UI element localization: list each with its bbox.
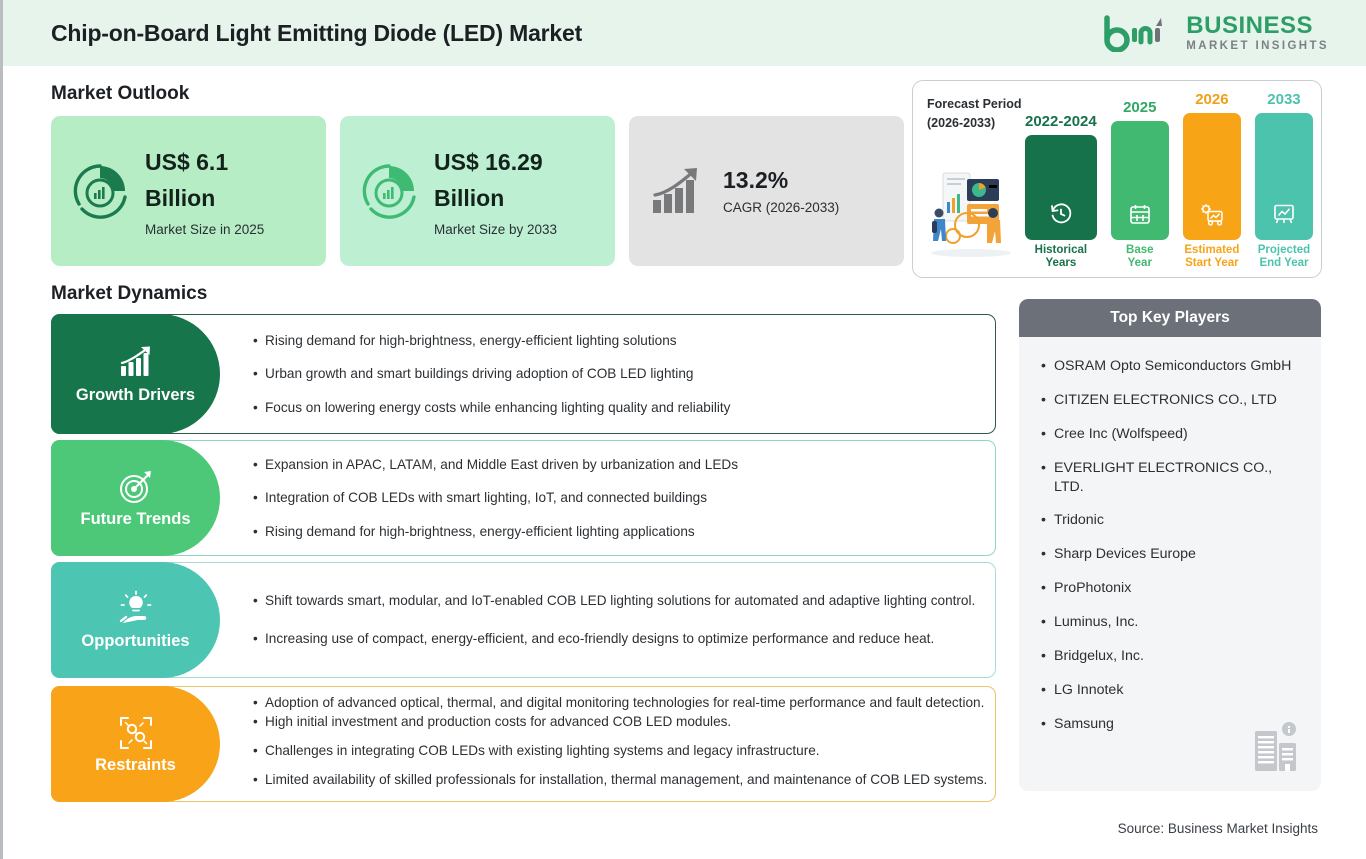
market-size-2033-card: US$ 16.29 Billion Market Size by 2033 — [340, 116, 615, 266]
dynamics-tab-growth-drivers[interactable]: Growth Drivers — [51, 314, 220, 434]
forecast-period-chart: Forecast Period (2026-2033) — [912, 80, 1322, 278]
dynamics-row-future-trends: Future Trends Expansion in APAC, LATAM, … — [51, 440, 996, 556]
dynamics-tab-restraints[interactable]: Restraints — [51, 686, 220, 802]
market-outlook-heading: Market Outlook — [51, 83, 189, 105]
bar-caption: Estimated Start Year — [1184, 244, 1239, 271]
dynamics-bullets: Rising demand for high-brightness, energ… — [253, 314, 988, 434]
cagr-value: 13.2% — [723, 167, 839, 195]
forecast-bars: 2022-2024 Historical Years 2025 — [1025, 91, 1313, 271]
forecast-bar-base: 2025 Base Year — [1111, 91, 1169, 271]
list-item: Tridonic — [1041, 511, 1303, 530]
bullet-item: Rising demand for high-brightness, energ… — [253, 331, 988, 351]
source-note: Source: Business Market Insights — [1118, 821, 1318, 836]
market-size-2033-value: US$ 16.29 — [434, 145, 557, 181]
list-item: Sharp Devices Europe — [1041, 545, 1303, 564]
dynamics-bullets: Shift towards smart, modular, and IoT-en… — [253, 562, 988, 678]
dynamics-row-opportunities: Opportunities Shift towards smart, modul… — [51, 562, 996, 678]
list-item: EVERLIGHT ELECTRONICS CO., LTD. — [1041, 459, 1303, 497]
logo-business-text: BUSINESS — [1186, 14, 1329, 38]
brand-logo: BUSINESS MARKET INSIGHTS — [1101, 14, 1329, 53]
list-item: LG Innotek — [1041, 681, 1303, 700]
logo-insights-text: MARKET INSIGHTS — [1186, 41, 1329, 53]
calendar-icon — [1128, 202, 1152, 231]
bar-year-label: 2033 — [1267, 91, 1300, 108]
bullet-item: Integration of COB LEDs with smart light… — [253, 488, 988, 508]
bar-rect — [1025, 135, 1097, 239]
list-item: Cree Inc (Wolfspeed) — [1041, 425, 1303, 444]
cagr-label: CAGR (2026-2033) — [723, 200, 839, 215]
dynamics-tab-opportunities[interactable]: Opportunities — [51, 562, 220, 678]
market-size-2025-label: Market Size in 2025 — [145, 222, 264, 237]
dynamics-tab-label: Opportunities — [81, 632, 189, 651]
bmi-logo-icon — [1101, 14, 1177, 52]
market-size-2033-label: Market Size by 2033 — [434, 222, 557, 237]
bullet-item: Urban growth and smart buildings driving… — [253, 364, 988, 384]
list-item: CITIZEN ELECTRONICS CO., LTD — [1041, 391, 1303, 410]
players-panel-title: Top Key Players — [1019, 299, 1321, 337]
market-dynamics-heading: Market Dynamics — [51, 283, 207, 305]
bar-chart-up-icon — [117, 344, 155, 382]
presentation-chart-icon — [1272, 202, 1296, 231]
donut-bar-chart-icon — [358, 160, 420, 222]
bullet-item: Focus on lowering energy costs while enh… — [253, 398, 988, 418]
growth-arrow-chart-icon — [647, 160, 709, 222]
bar-year-label: 2025 — [1123, 99, 1156, 116]
bar-rect — [1111, 121, 1169, 240]
bullet-item: High initial investment and production c… — [253, 712, 988, 732]
list-item: Bridgelux, Inc. — [1041, 647, 1303, 666]
market-outlook-cards: US$ 6.1 Billion Market Size in 2025 US$ … — [51, 116, 904, 266]
market-size-2025-unit: Billion — [145, 181, 264, 217]
page-header: Chip-on-Board Light Emitting Diode (LED)… — [3, 0, 1366, 66]
players-list: OSRAM Opto Semiconductors GmbH CITIZEN E… — [1019, 337, 1321, 734]
team-analytics-illustration — [923, 169, 1019, 259]
bullet-item: Challenges in integrating COB LEDs with … — [253, 741, 988, 761]
gear-chart-icon — [1199, 202, 1225, 231]
list-item: Luminus, Inc. — [1041, 613, 1303, 632]
market-size-2025-value: US$ 6.1 — [145, 145, 264, 181]
bar-year-label: 2026 — [1195, 91, 1228, 108]
dynamics-tab-label: Future Trends — [80, 510, 190, 529]
infographic-page: Chip-on-Board Light Emitting Diode (LED)… — [0, 0, 1366, 859]
bullet-item: Limited availability of skilled professi… — [253, 770, 988, 790]
cagr-card: 13.2% CAGR (2026-2033) — [629, 116, 904, 266]
bar-caption: Historical Years — [1035, 244, 1087, 271]
forecast-bar-projected: 2033 Projected End Year — [1255, 91, 1313, 271]
list-item: OSRAM Opto Semiconductors GmbH — [1041, 357, 1303, 376]
market-size-2025-card: US$ 6.1 Billion Market Size in 2025 — [51, 116, 326, 266]
dynamics-tab-label: Restraints — [95, 756, 176, 775]
target-dart-icon — [117, 468, 155, 506]
dynamics-bullets: Expansion in APAC, LATAM, and Middle Eas… — [253, 440, 988, 556]
bar-caption: Projected End Year — [1258, 244, 1310, 271]
molecule-brackets-icon — [117, 714, 155, 752]
top-key-players-panel: Top Key Players OSRAM Opto Semiconductor… — [1019, 299, 1321, 791]
bar-rect — [1255, 113, 1313, 240]
bullet-item: Rising demand for high-brightness, energ… — [253, 522, 988, 542]
page-title: Chip-on-Board Light Emitting Diode (LED)… — [51, 20, 582, 47]
lightbulb-hand-icon — [117, 590, 155, 628]
bar-year-label: 2022-2024 — [1025, 113, 1097, 130]
company-info-icon — [1253, 721, 1299, 773]
bar-rect — [1183, 113, 1241, 240]
dynamics-bullets: Adoption of advanced optical, thermal, a… — [253, 686, 988, 802]
list-item: ProPhotonix — [1041, 579, 1303, 598]
donut-bar-chart-icon — [69, 160, 131, 222]
forecast-bar-estimated: 2026 Estimated Start Year — [1183, 91, 1241, 271]
bullet-item: Expansion in APAC, LATAM, and Middle Eas… — [253, 455, 988, 475]
bar-caption: Base Year — [1126, 244, 1154, 271]
bullet-item: Increasing use of compact, energy-effici… — [253, 629, 988, 649]
dynamics-row-growth-drivers: Growth Drivers Rising demand for high-br… — [51, 314, 996, 434]
dynamics-tab-future-trends[interactable]: Future Trends — [51, 440, 220, 556]
market-size-2033-unit: Billion — [434, 181, 557, 217]
forecast-bar-historical: 2022-2024 Historical Years — [1025, 91, 1097, 271]
forecast-period-title: Forecast Period (2026-2033) — [927, 95, 1021, 134]
bullet-item: Adoption of advanced optical, thermal, a… — [253, 693, 988, 713]
history-clock-icon — [1049, 202, 1073, 231]
dynamics-tab-label: Growth Drivers — [76, 386, 195, 405]
dynamics-row-restraints: Restraints Adoption of advanced optical,… — [51, 686, 996, 802]
bullet-item: Shift towards smart, modular, and IoT-en… — [253, 591, 988, 611]
